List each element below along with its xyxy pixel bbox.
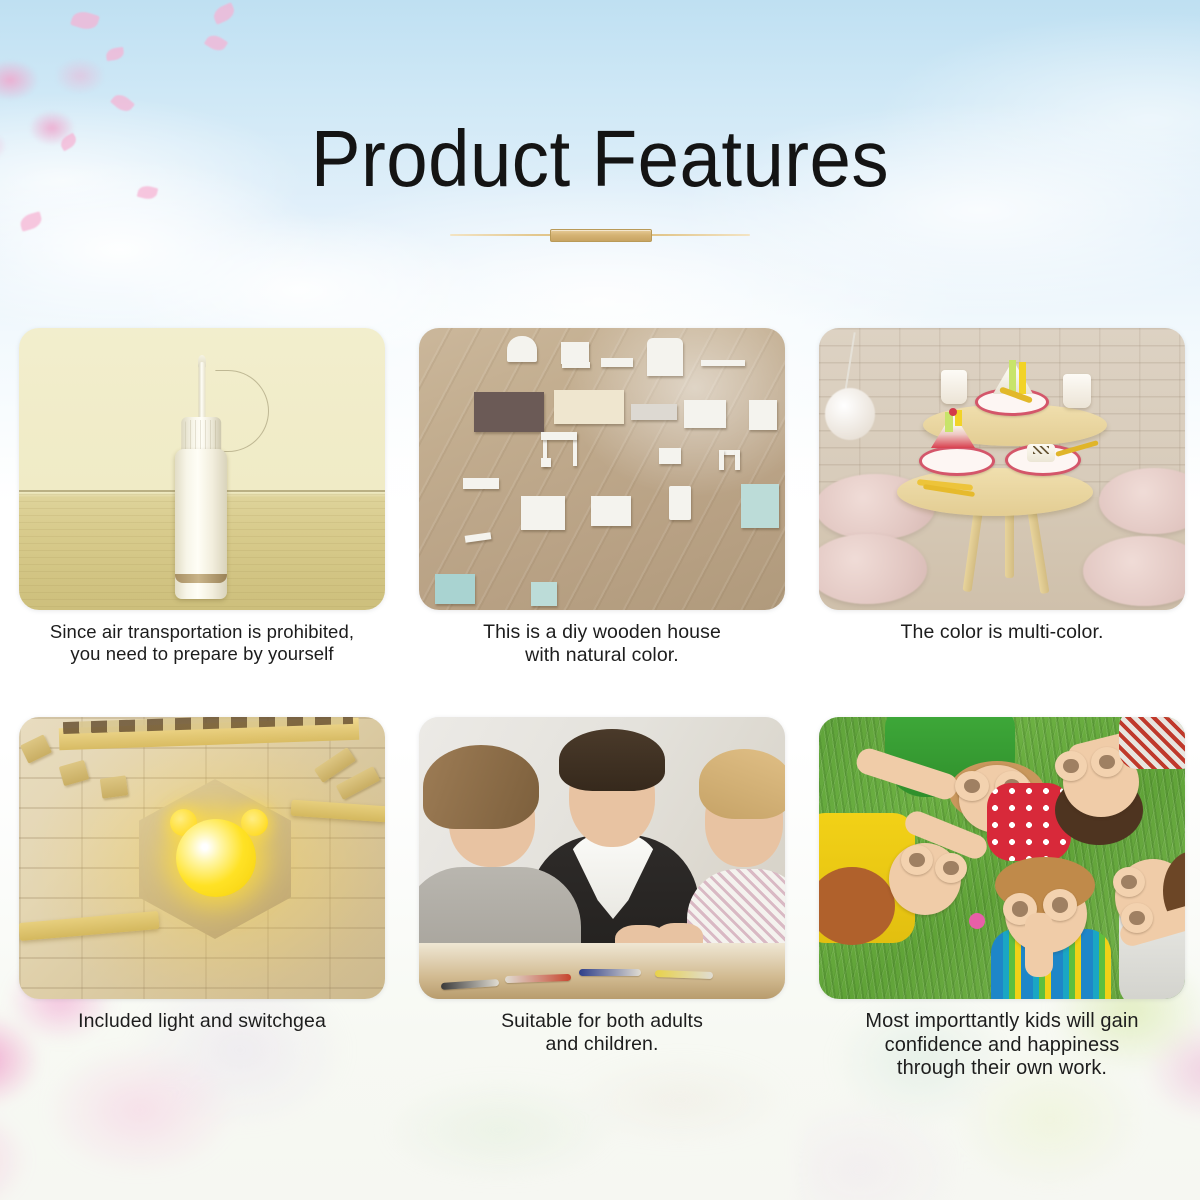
caption-line: you need to prepare by yourself bbox=[17, 643, 387, 665]
feature-card-3[interactable]: The color is multi-color. bbox=[818, 328, 1186, 667]
caption-line: Since air transportation is prohibited, bbox=[17, 621, 387, 643]
header: Product Features bbox=[0, 118, 1200, 244]
feature-card-2[interactable]: This is a diy wooden house with natural … bbox=[418, 328, 786, 667]
caption-line: Suitable for both adults bbox=[417, 1010, 787, 1033]
feature-row-top: Since air transportation is prohibited, … bbox=[18, 328, 1186, 667]
page-title: Product Features bbox=[42, 118, 1158, 200]
feature-card-5[interactable]: Suitable for both adults and children. bbox=[418, 717, 786, 1081]
divider-bar bbox=[550, 229, 652, 242]
feature-caption-3: The color is multi-color. bbox=[817, 621, 1187, 644]
feature-grid: Since air transportation is prohibited, … bbox=[18, 328, 1186, 1081]
feature-row-bottom: Included light and switchgea bbox=[18, 717, 1186, 1081]
bear-lamp-photo[interactable] bbox=[19, 717, 385, 999]
caption-line: with natural color. bbox=[417, 644, 787, 667]
dollhouse-table-photo[interactable] bbox=[819, 328, 1185, 610]
infographic-canvas: Product Features bbox=[0, 0, 1200, 1200]
wooden-house-parts-photo[interactable] bbox=[419, 328, 785, 610]
glue-bottle-photo[interactable] bbox=[19, 328, 385, 610]
feature-caption-5: Suitable for both adults and children. bbox=[417, 1010, 787, 1056]
gold-divider-ornament bbox=[450, 226, 750, 244]
feature-caption-2: This is a diy wooden house with natural … bbox=[417, 621, 787, 667]
feature-card-6[interactable]: Most importtantly kids will gain confide… bbox=[818, 717, 1186, 1081]
feature-card-4[interactable]: Included light and switchgea bbox=[18, 717, 386, 1081]
caption-line: through their own work. bbox=[817, 1057, 1187, 1081]
feature-caption-6: Most importtantly kids will gain confide… bbox=[817, 1010, 1187, 1081]
feature-card-1[interactable]: Since air transportation is prohibited, … bbox=[18, 328, 386, 667]
caption-line: This is a diy wooden house bbox=[417, 621, 787, 644]
kids-on-grass-photo[interactable] bbox=[819, 717, 1185, 999]
feature-caption-1: Since air transportation is prohibited, … bbox=[17, 621, 387, 665]
caption-line: The color is multi-color. bbox=[817, 621, 1187, 644]
caption-line: confidence and happiness bbox=[817, 1034, 1187, 1058]
caption-line: Most importtantly kids will gain bbox=[817, 1010, 1187, 1034]
family-crafting-photo[interactable] bbox=[419, 717, 785, 999]
caption-line: Included light and switchgea bbox=[17, 1010, 387, 1033]
caption-line: and children. bbox=[417, 1033, 787, 1056]
feature-caption-4: Included light and switchgea bbox=[17, 1010, 387, 1033]
